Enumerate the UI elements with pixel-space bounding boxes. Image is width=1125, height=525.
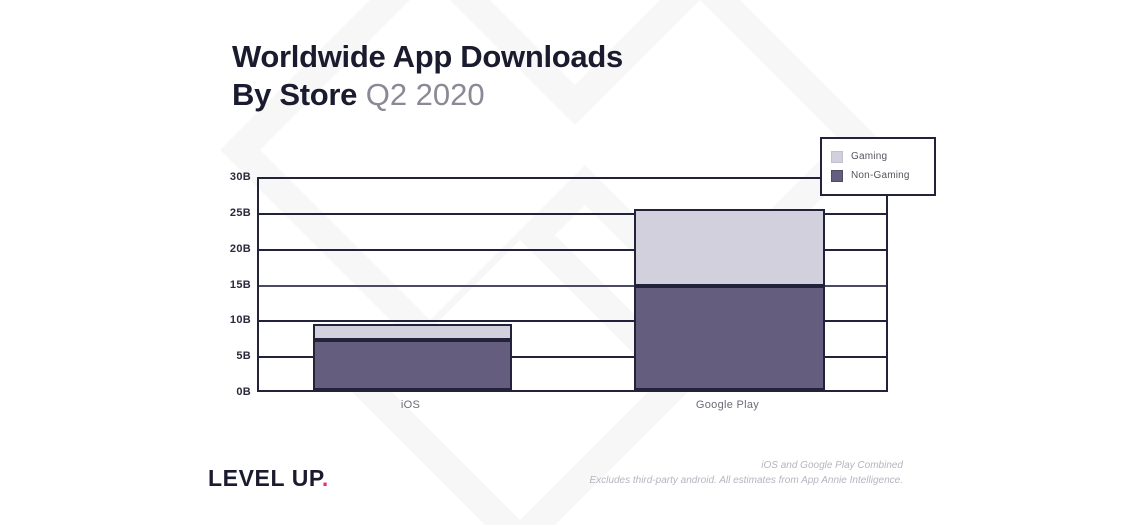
bar-ios-segment-non-gaming[interactable] — [313, 340, 512, 390]
legend-label-non-gaming: Non-Gaming — [851, 170, 910, 181]
bar-google-play[interactable] — [634, 175, 825, 390]
brand-logo: LEVEL UP. — [208, 465, 329, 492]
y-tick-0b: 0B — [236, 386, 251, 398]
footnote-source-combined: iOS and Google Play Combined — [590, 458, 904, 473]
y-tick-5b: 5B — [236, 350, 251, 362]
plot-area — [257, 177, 888, 392]
legend-swatch-gaming-icon — [831, 151, 843, 163]
page-title-bold-part: By Store — [232, 77, 357, 112]
bar-ios-segment-gaming[interactable] — [313, 324, 512, 340]
x-tick-label-google-play: Google Play — [632, 399, 823, 411]
chart-page: Worldwide App Downloads By Store Q2 2020… — [0, 0, 1125, 525]
brand-logo-dot: . — [322, 465, 329, 491]
page-subtitle-quarter: Q2 2020 — [366, 77, 485, 112]
chart-legend: Gaming Non-Gaming — [820, 137, 936, 196]
y-tick-20b: 20B — [230, 243, 251, 255]
page-title-line1: Worldwide App Downloads — [232, 38, 623, 76]
bar-google-play-segment-non-gaming[interactable] — [634, 286, 825, 390]
bar-google-play-segment-gaming[interactable] — [634, 209, 825, 286]
page-title-line2: By Store Q2 2020 — [232, 76, 623, 114]
legend-item-gaming[interactable]: Gaming — [831, 147, 925, 166]
footnotes: iOS and Google Play Combined Excludes th… — [590, 458, 904, 488]
legend-label-gaming: Gaming — [851, 151, 887, 162]
footnote-disclaimer: Excludes third-party android. All estima… — [590, 473, 904, 488]
brand-logo-text: LEVEL UP — [208, 465, 322, 491]
legend-item-non-gaming[interactable]: Non-Gaming — [831, 166, 925, 185]
x-tick-label-ios: iOS — [311, 399, 510, 411]
page-title-period — [357, 77, 366, 112]
y-tick-15b: 15B — [230, 279, 251, 291]
y-tick-25b: 25B — [230, 207, 251, 219]
legend-swatch-non-gaming-icon — [831, 170, 843, 182]
bar-ios[interactable] — [313, 175, 512, 390]
y-tick-10b: 10B — [230, 314, 251, 326]
y-axis-labels: 30B 25B 20B 15B 10B 5B 0B — [215, 177, 251, 392]
chart-title-block: Worldwide App Downloads By Store Q2 2020 — [232, 38, 623, 114]
y-tick-30b: 30B — [230, 171, 251, 183]
